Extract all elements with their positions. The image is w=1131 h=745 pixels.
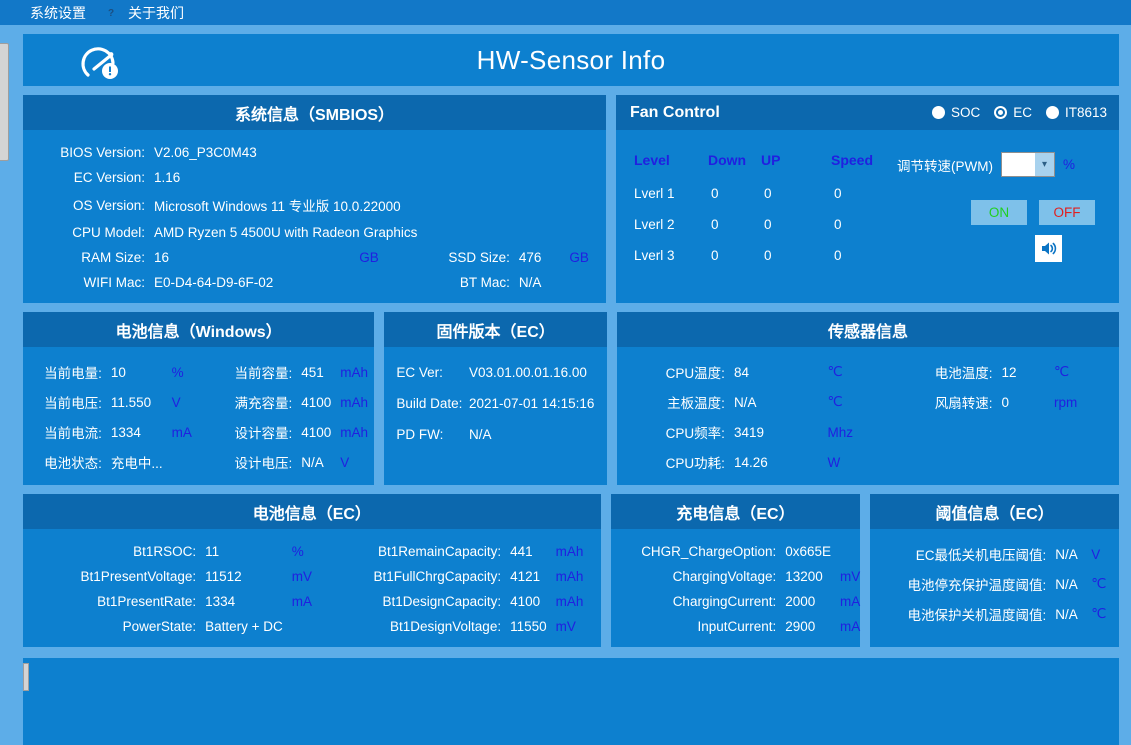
- cell-speed: 0: [831, 209, 891, 240]
- field-label: PD FW:: [396, 419, 469, 450]
- panel-smbios-title: 系统信息（SMBIOS）: [23, 95, 606, 130]
- field-unit: ℃: [1045, 357, 1119, 387]
- field-unit: [163, 447, 205, 477]
- cell-level: Lverl 1: [634, 178, 708, 209]
- field-value: 4121: [501, 564, 547, 589]
- panel-battery-windows-body: 当前电量: 10 % 当前容量: 451 mAh 当前电压: 11.550 V …: [23, 347, 374, 485]
- row-2: 电池信息（Windows） 当前电量: 10 % 当前容量: 451 mAh 当…: [23, 312, 1119, 485]
- field-label: 设计容量:: [205, 417, 293, 447]
- field-label-ram: RAM Size:: [23, 245, 145, 270]
- field-value: 11.550: [102, 387, 163, 417]
- field-value: 451: [292, 357, 331, 387]
- col-header-level: Level: [634, 148, 708, 178]
- menu-item-about-us-label: 关于我们: [128, 3, 184, 23]
- field-label: Bt1RemainCapacity:: [334, 539, 501, 564]
- field-row: 电池停充保护温度阈值: N/A ℃: [870, 569, 1119, 599]
- field-row: 当前电压: 11.550 V 满充容量: 4100 mAh: [23, 387, 374, 417]
- radio-soc-dot: [932, 106, 945, 119]
- field-value: 4100: [501, 589, 547, 614]
- panel-charging-ec-body: CHGR_ChargeOption: 0x665E ChargingVoltag…: [611, 529, 861, 647]
- field-value: N/A: [1046, 539, 1082, 569]
- field-unit: W: [818, 447, 892, 477]
- field-row: 当前电流: 1334 mA 设计容量: 4100 mAh: [23, 417, 374, 447]
- panel-threshold-ec-title: 阈值信息（EC）: [870, 494, 1119, 529]
- table-row: Lverl 2 0 0 0: [634, 209, 891, 240]
- field-unit: mV: [547, 614, 601, 639]
- field-value: 13200: [776, 564, 831, 589]
- field-unit: ℃: [1082, 599, 1119, 629]
- field-unit: mAh: [547, 539, 601, 564]
- field-unit: [831, 539, 860, 564]
- field-value: 充电中...: [102, 447, 163, 477]
- panel-fan-control-body: Level Down UP Speed Lverl 1: [616, 130, 1119, 303]
- menu-item-system-settings-label: 系统设置: [30, 3, 86, 23]
- field-value: 3419: [725, 417, 819, 447]
- panel-sensors: 传感器信息 CPU温度: 84 ℃ 电池温度: 12 ℃ 主板温度:: [617, 312, 1119, 485]
- field-label: 电池温度:: [892, 357, 992, 387]
- field-value: 1334: [102, 417, 163, 447]
- field-unit: Mhz: [818, 417, 892, 447]
- field-unit: %: [283, 539, 335, 564]
- field-value: 12: [992, 357, 1045, 387]
- panel-battery-ec: 电池信息（EC） Bt1RSOC: 11 % Bt1RemainCapacity…: [23, 494, 601, 647]
- panel-smbios: 系统信息（SMBIOS） BIOS Version:V2.06_P3C0M43 …: [23, 95, 606, 303]
- field-label: PowerState:: [23, 614, 196, 639]
- field-value: 1.16: [145, 165, 606, 190]
- field-unit: mA: [831, 614, 860, 639]
- field-row: RAM Size: 16 GB SSD Size: 476 GB: [23, 245, 606, 270]
- field-row: CHGR_ChargeOption: 0x665E: [611, 539, 861, 564]
- panel-fan-control-header: Fan Control SOC EC IT8613: [616, 95, 1119, 130]
- field-value: V03.01.00.01.16.00: [469, 357, 607, 388]
- row-1: 系统信息（SMBIOS） BIOS Version:V2.06_P3C0M43 …: [23, 95, 1119, 303]
- field-value: 1334: [196, 589, 283, 614]
- radio-soc-label: SOC: [951, 105, 980, 120]
- field-label: CPU功耗:: [617, 447, 725, 477]
- field-value: 11550: [501, 614, 547, 639]
- panel-firmware-ec-title: 固件版本（EC）: [384, 312, 607, 347]
- panel-battery-windows-title: 电池信息（Windows）: [23, 312, 374, 347]
- panel-charging-ec-title: 充电信息（EC）: [611, 494, 861, 529]
- pwm-unit: %: [1063, 157, 1075, 172]
- log-scroll-handle[interactable]: [23, 663, 29, 691]
- fan-level-table: Level Down UP Speed Lverl 1: [634, 148, 891, 271]
- radio-soc[interactable]: SOC: [932, 105, 980, 120]
- field-label: CHGR_ChargeOption:: [611, 539, 777, 564]
- field-value: 2021-07-01 14:15:16: [469, 388, 607, 419]
- field-unit: V: [331, 447, 374, 477]
- panel-threshold-ec-body: EC最低关机电压阈值: N/A V 电池停充保护温度阈值: N/A ℃ 电池保护…: [870, 529, 1119, 647]
- field-label: 风扇转速:: [892, 387, 992, 417]
- radio-ec-label: EC: [1013, 105, 1032, 120]
- radio-it8613[interactable]: IT8613: [1046, 105, 1107, 120]
- fan-source-radio-group: SOC EC IT8613: [932, 105, 1107, 120]
- field-label-wifi: WIFI Mac:: [23, 270, 145, 295]
- field-row: CPU Model:AMD Ryzen 5 4500U with Radeon …: [23, 220, 606, 245]
- gauge-warning-icon: [80, 42, 124, 82]
- field-label: Bt1PresentVoltage:: [23, 564, 196, 589]
- field-unit: mAh: [331, 387, 374, 417]
- field-unit-ssd: GB: [560, 245, 606, 270]
- radio-it8613-label: IT8613: [1065, 105, 1107, 120]
- field-row: ChargingVoltage: 13200 mV: [611, 564, 861, 589]
- panel-sensors-body: CPU温度: 84 ℃ 电池温度: 12 ℃ 主板温度: N/A ℃ 风扇转速:: [617, 347, 1119, 485]
- field-label-bt: BT Mac:: [422, 270, 510, 295]
- field-row: Bt1RSOC: 11 % Bt1RemainCapacity: 441 mAh: [23, 539, 601, 564]
- field-value: N/A: [292, 447, 331, 477]
- field-label: EC Ver:: [396, 357, 469, 388]
- field-value-wifi: E0-D4-64-D9-6F-02: [145, 270, 350, 295]
- field-label: CPU Model:: [23, 220, 145, 245]
- about-icon: [108, 5, 122, 21]
- field-unit: %: [163, 357, 205, 387]
- field-label: CPU频率:: [617, 417, 725, 447]
- panel-sensors-title: 传感器信息: [617, 312, 1119, 347]
- fan-table-header-row: Level Down UP Speed: [634, 148, 891, 178]
- fan-off-button[interactable]: OFF: [1039, 200, 1095, 225]
- field-value: 11: [196, 539, 283, 564]
- chevron-down-icon: ▾: [1035, 153, 1054, 176]
- field-row: 电池状态: 充电中... 设计电压: N/A V: [23, 447, 374, 477]
- pwm-label: 调节转速(PWM): [897, 155, 993, 175]
- panel-fan-control-title: Fan Control: [630, 104, 720, 122]
- field-value: N/A: [469, 419, 607, 450]
- field-label: 电池状态:: [23, 447, 102, 477]
- left-scroll-handle[interactable]: [0, 43, 9, 161]
- table-row: Lverl 3 0 0 0: [634, 240, 891, 271]
- field-value-ram: 16: [145, 245, 350, 270]
- row-3: 电池信息（EC） Bt1RSOC: 11 % Bt1RemainCapacity…: [23, 494, 1119, 647]
- field-value: AMD Ryzen 5 4500U with Radeon Graphics: [145, 220, 606, 245]
- field-value: 84: [725, 357, 819, 387]
- field-label: 当前电量:: [23, 357, 102, 387]
- field-value: 14.26: [725, 447, 819, 477]
- field-row: CPU功耗: 14.26 W: [617, 447, 1119, 477]
- field-unit: mAh: [547, 564, 601, 589]
- field-label: Bt1FullChrgCapacity:: [334, 564, 501, 589]
- field-unit: mA: [163, 417, 205, 447]
- field-label: 主板温度:: [617, 387, 725, 417]
- field-unit: ℃: [818, 357, 892, 387]
- field-value: Microsoft Windows 11 专业版 10.0.22000: [145, 190, 606, 220]
- table-row: Lverl 1 0 0 0: [634, 178, 891, 209]
- field-label: EC Version:: [23, 165, 145, 190]
- radio-it8613-dot: [1046, 106, 1059, 119]
- field-row: EC Ver: V03.01.00.01.16.00: [396, 357, 607, 388]
- field-unit: mV: [283, 564, 335, 589]
- menu-bar: 系统设置 关于我们: [0, 0, 1131, 25]
- col-header-down: Down: [708, 148, 761, 178]
- field-label: InputCurrent:: [611, 614, 777, 639]
- field-row: Bt1PresentRate: 1334 mA Bt1DesignCapacit…: [23, 589, 601, 614]
- field-label-ssd: SSD Size:: [422, 245, 510, 270]
- panel-charging-ec: 充电信息（EC） CHGR_ChargeOption: 0x665E Charg…: [611, 494, 861, 647]
- field-unit: ℃: [1082, 569, 1119, 599]
- field-row: CPU温度: 84 ℃ 电池温度: 12 ℃: [617, 357, 1119, 387]
- app-banner: HW-Sensor Info: [23, 34, 1119, 86]
- cell-speed: 0: [831, 178, 891, 209]
- field-row: PowerState: Battery + DC Bt1DesignVoltag…: [23, 614, 601, 639]
- field-value: Battery + DC: [196, 614, 283, 639]
- field-row: BIOS Version:V2.06_P3C0M43: [23, 140, 606, 165]
- field-row: 主板温度: N/A ℃ 风扇转速: 0 rpm: [617, 387, 1119, 417]
- field-unit: mAh: [547, 589, 601, 614]
- field-row: Bt1PresentVoltage: 11512 mV Bt1FullChrgC…: [23, 564, 601, 589]
- field-row: WIFI Mac: E0-D4-64-D9-6F-02 BT Mac: N/A: [23, 270, 606, 295]
- cell-up: 0: [761, 209, 831, 240]
- field-row: InputCurrent: 2900 mA: [611, 614, 861, 639]
- field-label: Bt1DesignVoltage:: [334, 614, 501, 639]
- field-label: CPU温度:: [617, 357, 725, 387]
- cell-down: 0: [708, 209, 761, 240]
- field-label: OS Version:: [23, 190, 145, 220]
- field-row: PD FW: N/A: [396, 419, 607, 450]
- field-row: 电池保护关机温度阈值: N/A ℃: [870, 599, 1119, 629]
- shield-icon: [10, 5, 24, 21]
- fan-on-button[interactable]: ON: [971, 200, 1027, 225]
- field-label: Bt1PresentRate:: [23, 589, 196, 614]
- field-value: N/A: [1046, 569, 1082, 599]
- speaker-icon[interactable]: [1035, 235, 1062, 262]
- field-label: BIOS Version:: [23, 140, 145, 165]
- panel-battery-ec-body: Bt1RSOC: 11 % Bt1RemainCapacity: 441 mAh…: [23, 529, 601, 647]
- field-value-bt: N/A: [510, 270, 560, 295]
- panel-battery-ec-title: 电池信息（EC）: [23, 494, 601, 529]
- pwm-row: 调节转速(PWM) ▾ %: [897, 152, 1095, 177]
- field-unit: mA: [831, 589, 860, 614]
- field-label: 电池停充保护温度阈值:: [870, 569, 1046, 599]
- field-value: 4100: [292, 387, 331, 417]
- cell-up: 0: [761, 240, 831, 271]
- field-label: Build Date:: [396, 388, 469, 419]
- cell-down: 0: [708, 178, 761, 209]
- field-unit: mAh: [331, 357, 374, 387]
- field-label: ChargingVoltage:: [611, 564, 777, 589]
- radio-ec[interactable]: EC: [994, 105, 1032, 120]
- field-value: V2.06_P3C0M43: [145, 140, 606, 165]
- field-value: 0: [992, 387, 1045, 417]
- field-value: 11512: [196, 564, 283, 589]
- field-row: ChargingCurrent: 2000 mA: [611, 589, 861, 614]
- field-label: 当前电压:: [23, 387, 102, 417]
- cell-down: 0: [708, 240, 761, 271]
- cell-up: 0: [761, 178, 831, 209]
- field-label: EC最低关机电压阈值:: [870, 539, 1046, 569]
- fan-controls: 调节转速(PWM) ▾ % ON OFF: [897, 148, 1095, 271]
- field-row: EC最低关机电压阈值: N/A V: [870, 539, 1119, 569]
- field-row: Build Date: 2021-07-01 14:15:16: [396, 388, 607, 419]
- field-value: N/A: [725, 387, 819, 417]
- radio-ec-dot: [994, 106, 1007, 119]
- field-row: EC Version:1.16: [23, 165, 606, 190]
- panel-threshold-ec: 阈值信息（EC） EC最低关机电压阈值: N/A V 电池停充保护温度阈值: N…: [870, 494, 1119, 647]
- field-unit: rpm: [1045, 387, 1119, 417]
- field-unit: mAh: [331, 417, 374, 447]
- cell-level: Lverl 3: [634, 240, 708, 271]
- panel-smbios-body: BIOS Version:V2.06_P3C0M43 EC Version:1.…: [23, 130, 606, 303]
- field-value: 441: [501, 539, 547, 564]
- fan-power-buttons: ON OFF: [971, 200, 1095, 225]
- field-unit: mV: [831, 564, 860, 589]
- panel-log-area: [23, 658, 1119, 745]
- field-value: N/A: [1046, 599, 1082, 629]
- content-area: HW-Sensor Info 系统信息（SMBIOS） BIOS Version…: [23, 34, 1119, 745]
- field-label: ChargingCurrent:: [611, 589, 777, 614]
- field-unit-ram: GB: [350, 245, 396, 270]
- field-unit: V: [1082, 539, 1119, 569]
- col-header-speed: Speed: [831, 148, 891, 178]
- field-unit: V: [163, 387, 205, 417]
- field-value: 2000: [776, 589, 831, 614]
- field-unit: [283, 614, 335, 639]
- field-value: 0x665E: [776, 539, 831, 564]
- field-label: Bt1DesignCapacity:: [334, 589, 501, 614]
- pwm-select[interactable]: ▾: [1001, 152, 1055, 177]
- cell-speed: 0: [831, 240, 891, 271]
- field-label: Bt1RSOC:: [23, 539, 196, 564]
- field-unit: mA: [283, 589, 335, 614]
- field-label: 满充容量:: [205, 387, 293, 417]
- field-label: 当前容量:: [205, 357, 293, 387]
- page-title: HW-Sensor Info: [23, 45, 1119, 76]
- field-row: 当前电量: 10 % 当前容量: 451 mAh: [23, 357, 374, 387]
- panel-firmware-ec: 固件版本（EC） EC Ver: V03.01.00.01.16.00 Buil…: [384, 312, 607, 485]
- menu-item-about-us[interactable]: 关于我们: [108, 3, 184, 23]
- field-value: 4100: [292, 417, 331, 447]
- field-row: OS Version:Microsoft Windows 11 专业版 10.0…: [23, 190, 606, 220]
- field-value: 2900: [776, 614, 831, 639]
- panel-fan-control: Fan Control SOC EC IT8613: [616, 95, 1119, 303]
- field-label: 当前电流:: [23, 417, 102, 447]
- field-unit: ℃: [818, 387, 892, 417]
- field-row: CPU频率: 3419 Mhz: [617, 417, 1119, 447]
- panel-battery-windows: 电池信息（Windows） 当前电量: 10 % 当前容量: 451 mAh 当…: [23, 312, 374, 485]
- menu-item-system-settings[interactable]: 系统设置: [10, 3, 86, 23]
- pwm-select-value: [1002, 153, 1035, 176]
- field-label: 电池保护关机温度阈值:: [870, 599, 1046, 629]
- field-value: 10: [102, 357, 163, 387]
- col-header-up: UP: [761, 148, 831, 178]
- app-window: HW-Sensor Info 系统信息（SMBIOS） BIOS Version…: [0, 25, 1131, 745]
- field-label: 设计电压:: [205, 447, 293, 477]
- cell-level: Lverl 2: [634, 209, 708, 240]
- field-value-ssd: 476: [510, 245, 560, 270]
- panel-firmware-ec-body: EC Ver: V03.01.00.01.16.00 Build Date: 2…: [384, 347, 607, 485]
